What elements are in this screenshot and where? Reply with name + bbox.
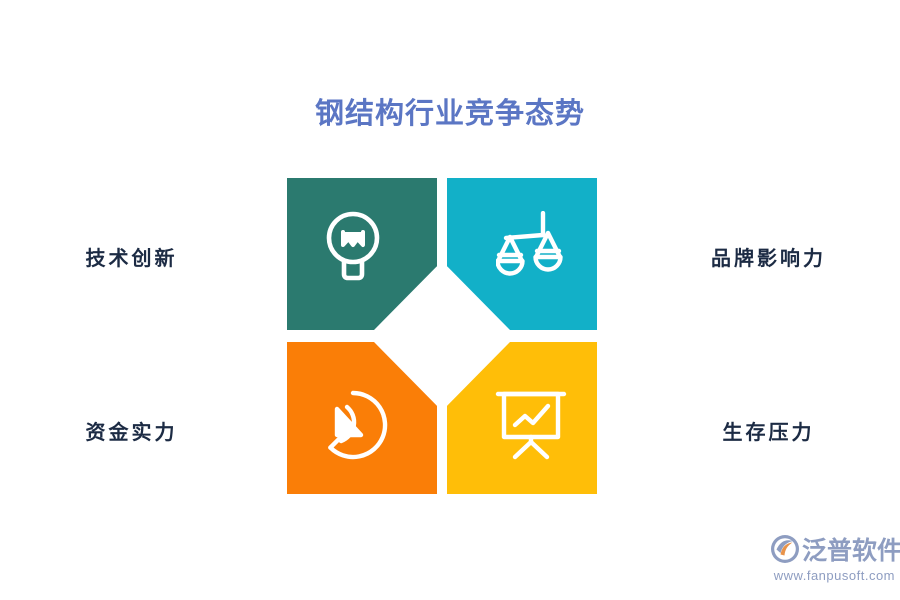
watermark-brand-text: 泛普软件: [802, 539, 900, 564]
page-title: 钢结构行业竞争态势: [0, 97, 900, 132]
quadrant-label-top-right: 品牌影响力: [637, 242, 900, 271]
quadrant-cluster: [287, 178, 597, 494]
quadrant-top-left[interactable]: [287, 178, 437, 330]
infographic-canvas: 钢结构行业竞争态势: [0, 0, 900, 600]
quadrant-top-right[interactable]: [447, 178, 597, 330]
watermark-brand-row: 泛普软件: [770, 535, 895, 567]
quadrant-label-bottom-right: 生存压力: [637, 416, 900, 445]
fanpu-logo-icon: [770, 534, 800, 569]
watermark: 泛普软件 www.fanpusoft.com: [770, 535, 895, 587]
lightbulb-icon: [278, 171, 428, 323]
quadrant-bottom-left[interactable]: [287, 342, 437, 494]
pie-chart-icon: [278, 349, 428, 501]
watermark-url: www.fanpusoft.com: [770, 568, 895, 583]
quadrant-label-bottom-left: 资金实力: [0, 416, 263, 445]
quadrant-label-top-left: 技术创新: [0, 242, 263, 271]
balance-scales-icon: [456, 171, 606, 323]
presentation-chart-icon: [456, 349, 606, 501]
quadrant-bottom-right[interactable]: [447, 342, 597, 494]
